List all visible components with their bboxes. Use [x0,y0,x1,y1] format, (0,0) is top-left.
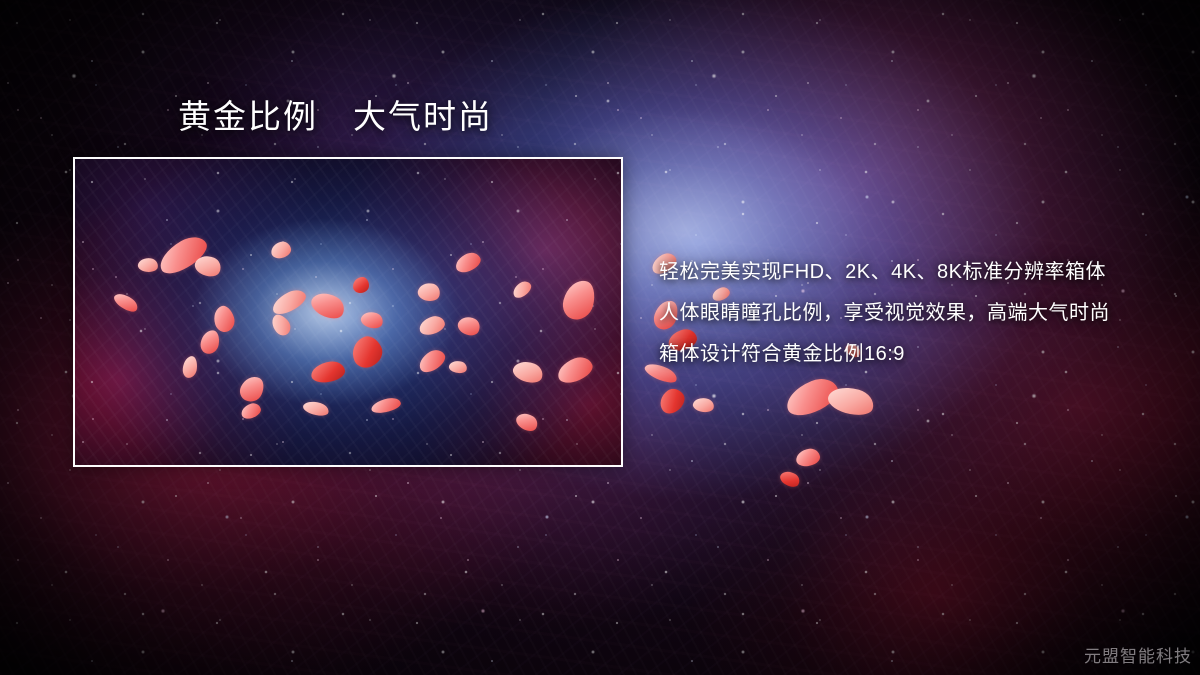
page-title: 黄金比例 大气时尚 [178,98,493,136]
body-line-2: 人体眼睛瞳孔比例，享受视觉效果，高端大气时尚 [659,293,1179,334]
body-line-1: 轻松完美实现FHD、2K、4K、8K标准分辨率箱体 [659,252,1179,293]
presentation-slide: 黄金比例 大气时尚 轻松完美实现FHD、2K、4K、8K标准分辨率箱体 人体眼睛… [0,0,1200,675]
framed-image [73,157,623,467]
body-line-3: 箱体设计符合黄金比例16:9 [659,334,1179,375]
body-copy: 轻松完美实现FHD、2K、4K、8K标准分辨率箱体 人体眼睛瞳孔比例，享受视觉效… [659,252,1179,375]
framed-image-wisps [75,159,621,465]
watermark: 元盟智能科技 [1084,642,1192,667]
